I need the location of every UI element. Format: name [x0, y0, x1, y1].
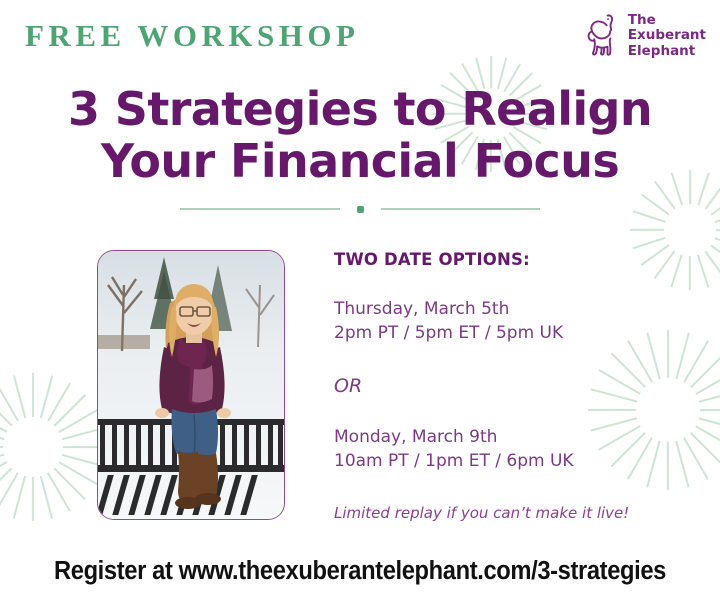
sunburst-ray — [690, 353, 720, 388]
poster-canvas: FREE WORKSHOP The Exuberan — [0, 0, 720, 604]
sunburst-ray — [630, 229, 664, 231]
sunburst-ray — [0, 468, 12, 500]
sunburst-ray — [0, 454, 4, 467]
sunburst-ray — [59, 409, 98, 433]
option-separator: OR — [334, 375, 684, 397]
details-kicker: TWO DATE OPTIONS: — [334, 250, 684, 269]
logo-wordmark: The Exuberant Elephant — [628, 13, 706, 60]
date-option-2: Monday, March 9th 10am PT / 1pm ET / 6pm… — [334, 425, 684, 473]
sunburst-ray — [641, 194, 669, 215]
photo-illustration — [98, 251, 284, 519]
sunburst-ray — [699, 417, 720, 431]
sunburst-ray — [689, 256, 691, 290]
divider-dot — [357, 206, 364, 213]
sunburst-ray — [0, 409, 7, 433]
sunburst-ray — [13, 476, 26, 519]
page-title: 3 Strategies to Realign Your Financial F… — [0, 83, 720, 188]
speaker-photo — [97, 250, 285, 520]
sunburst-ray — [711, 245, 720, 266]
date-option-1: Thursday, March 5th 2pm PT / 5pm ET / 5p… — [334, 297, 684, 345]
sunburst-ray — [683, 340, 709, 382]
sunburst-ray — [695, 369, 720, 395]
brand-logo[interactable]: The Exuberant Elephant — [583, 10, 706, 62]
sunburst-ray — [700, 409, 720, 411]
sunburst-ray — [0, 446, 3, 448]
sunburst-ray — [0, 461, 7, 485]
sunburst-ray — [695, 425, 720, 451]
option1-date: Thursday, March 5th — [334, 297, 684, 321]
sunburst-ray — [32, 373, 34, 417]
details-panel: TWO DATE OPTIONS: Thursday, March 5th 2p… — [334, 250, 684, 522]
option2-times: 10am PT / 1pm ET / 6pm UK — [334, 449, 684, 473]
sunburst-ray — [705, 251, 720, 279]
title-line-2: Your Financial Focus — [0, 135, 720, 187]
sunburst-ray — [716, 229, 720, 231]
elephant-icon — [583, 10, 625, 62]
sunburst-ray — [47, 473, 71, 512]
sunburst-ray — [0, 394, 12, 426]
logo-line-elephant: Elephant — [628, 44, 706, 60]
sunburst-ray — [699, 388, 720, 402]
option2-date: Monday, March 9th — [334, 425, 684, 449]
sunburst-ray — [0, 382, 19, 421]
sunburst-ray — [714, 237, 720, 249]
sunburst-ray — [697, 254, 709, 287]
sunburst-ray — [0, 427, 4, 440]
logo-line-the: The — [628, 13, 706, 29]
sunburst-ray — [13, 375, 26, 418]
sunburst-ray — [54, 394, 86, 426]
logo-line-exuberant: Exuberant — [628, 28, 706, 44]
sunburst-ray — [683, 437, 709, 479]
replay-note: Limited replay if you can’t make it live… — [334, 504, 684, 522]
sunburst-ray — [32, 477, 34, 521]
sunburst-ray — [714, 211, 720, 223]
sunburst-ray — [633, 237, 666, 249]
register-cta[interactable]: Register at www.theexuberantelephant.com… — [25, 557, 695, 586]
sunburst-ray — [40, 476, 53, 519]
eyebrow-free-workshop: FREE WORKSHOP — [25, 18, 359, 54]
divider-bar-right — [381, 208, 541, 210]
sunburst-ray — [711, 194, 720, 215]
sunburst-ray — [690, 432, 720, 467]
sunburst-ray — [633, 211, 666, 223]
sunburst-ray — [54, 468, 86, 500]
sunburst-ray — [47, 382, 71, 421]
sunburst-ray — [0, 473, 19, 512]
sunburst-decoration-left — [0, 372, 108, 522]
option1-times: 2pm PT / 5pm ET / 5pm UK — [334, 321, 684, 345]
title-line-1: 3 Strategies to Realign — [0, 83, 720, 135]
divider-bar-left — [180, 208, 340, 210]
sunburst-ray — [40, 375, 53, 418]
divider — [180, 205, 540, 213]
sunburst-ray — [59, 461, 98, 485]
